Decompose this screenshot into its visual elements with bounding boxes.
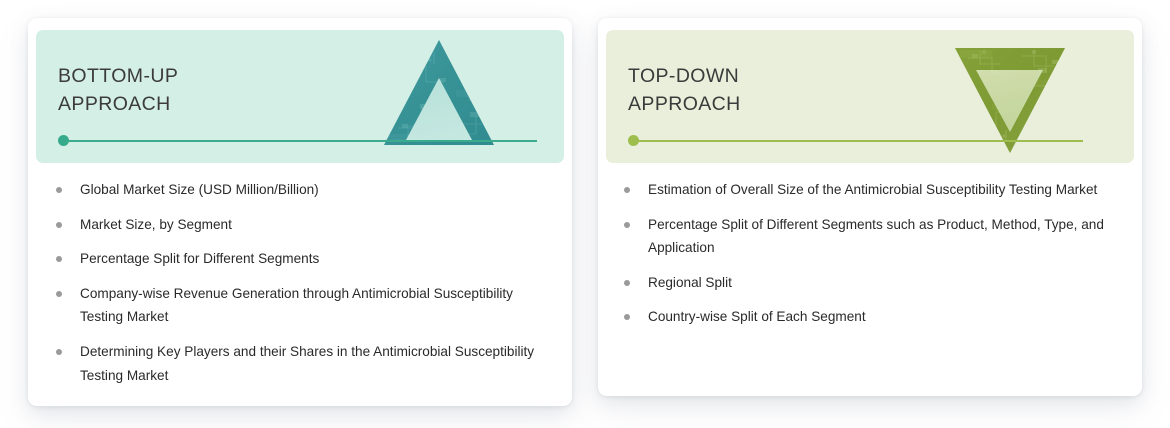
card-top-down-approach: TOP-DOWN APPROACH Estimation of Overall … (598, 18, 1142, 396)
bullet-dot-icon (624, 314, 630, 320)
bullet-dot-icon (56, 256, 62, 262)
list-item-label: Percentage Split of Different Segments s… (648, 217, 1104, 256)
triangle-up-icon (364, 30, 564, 163)
list-item-label: Determining Key Players and their Shares… (80, 344, 534, 383)
header-rule-dot (628, 135, 639, 146)
bullet-dot-icon (56, 291, 62, 297)
list-item: Country-wise Split of Each Segment (620, 305, 1126, 329)
list-item-label: Regional Split (648, 275, 732, 290)
list-item-label: Global Market Size (USD Million/Billion) (80, 182, 319, 197)
bullet-dot-icon (624, 222, 630, 228)
header-rule (65, 140, 537, 142)
card-header-bottom-up: BOTTOM-UP APPROACH (36, 30, 564, 163)
list-item: Determining Key Players and their Shares… (52, 340, 546, 387)
card-bottom-up-approach: BOTTOM-UP APPROACH Global Market Size (U… (28, 18, 572, 406)
bullet-dot-icon (56, 349, 62, 355)
list-item: Regional Split (620, 271, 1126, 295)
list-item-label: Company-wise Revenue Generation through … (80, 286, 513, 325)
list-item-label: Estimation of Overall Size of the Antimi… (648, 182, 1097, 197)
card-title-bottom-up: BOTTOM-UP APPROACH (58, 62, 178, 118)
list-item-label: Market Size, by Segment (80, 217, 232, 232)
card-header-top-down: TOP-DOWN APPROACH (606, 30, 1134, 163)
header-rule (635, 140, 1083, 142)
bullet-dot-icon (624, 187, 630, 193)
bullet-list-top-down: Estimation of Overall Size of the Antimi… (620, 178, 1126, 329)
bullet-dot-icon (56, 187, 62, 193)
triangle-down-icon (934, 30, 1134, 163)
card-title-top-down: TOP-DOWN APPROACH (628, 62, 741, 118)
list-item: Global Market Size (USD Million/Billion) (52, 178, 546, 202)
list-item: Market Size, by Segment (52, 213, 546, 237)
list-item: Percentage Split for Different Segments (52, 247, 546, 271)
list-item: Company-wise Revenue Generation through … (52, 282, 546, 329)
list-item: Percentage Split of Different Segments s… (620, 213, 1126, 260)
list-item-label: Country-wise Split of Each Segment (648, 309, 866, 324)
list-item-label: Percentage Split for Different Segments (80, 251, 319, 266)
header-rule-dot (58, 135, 69, 146)
list-item: Estimation of Overall Size of the Antimi… (620, 178, 1126, 202)
bullet-dot-icon (56, 222, 62, 228)
diagram-canvas: BOTTOM-UP APPROACH Global Market Size (U… (0, 0, 1170, 428)
bullet-dot-icon (624, 280, 630, 286)
bullet-list-bottom-up: Global Market Size (USD Million/Billion)… (52, 178, 546, 387)
